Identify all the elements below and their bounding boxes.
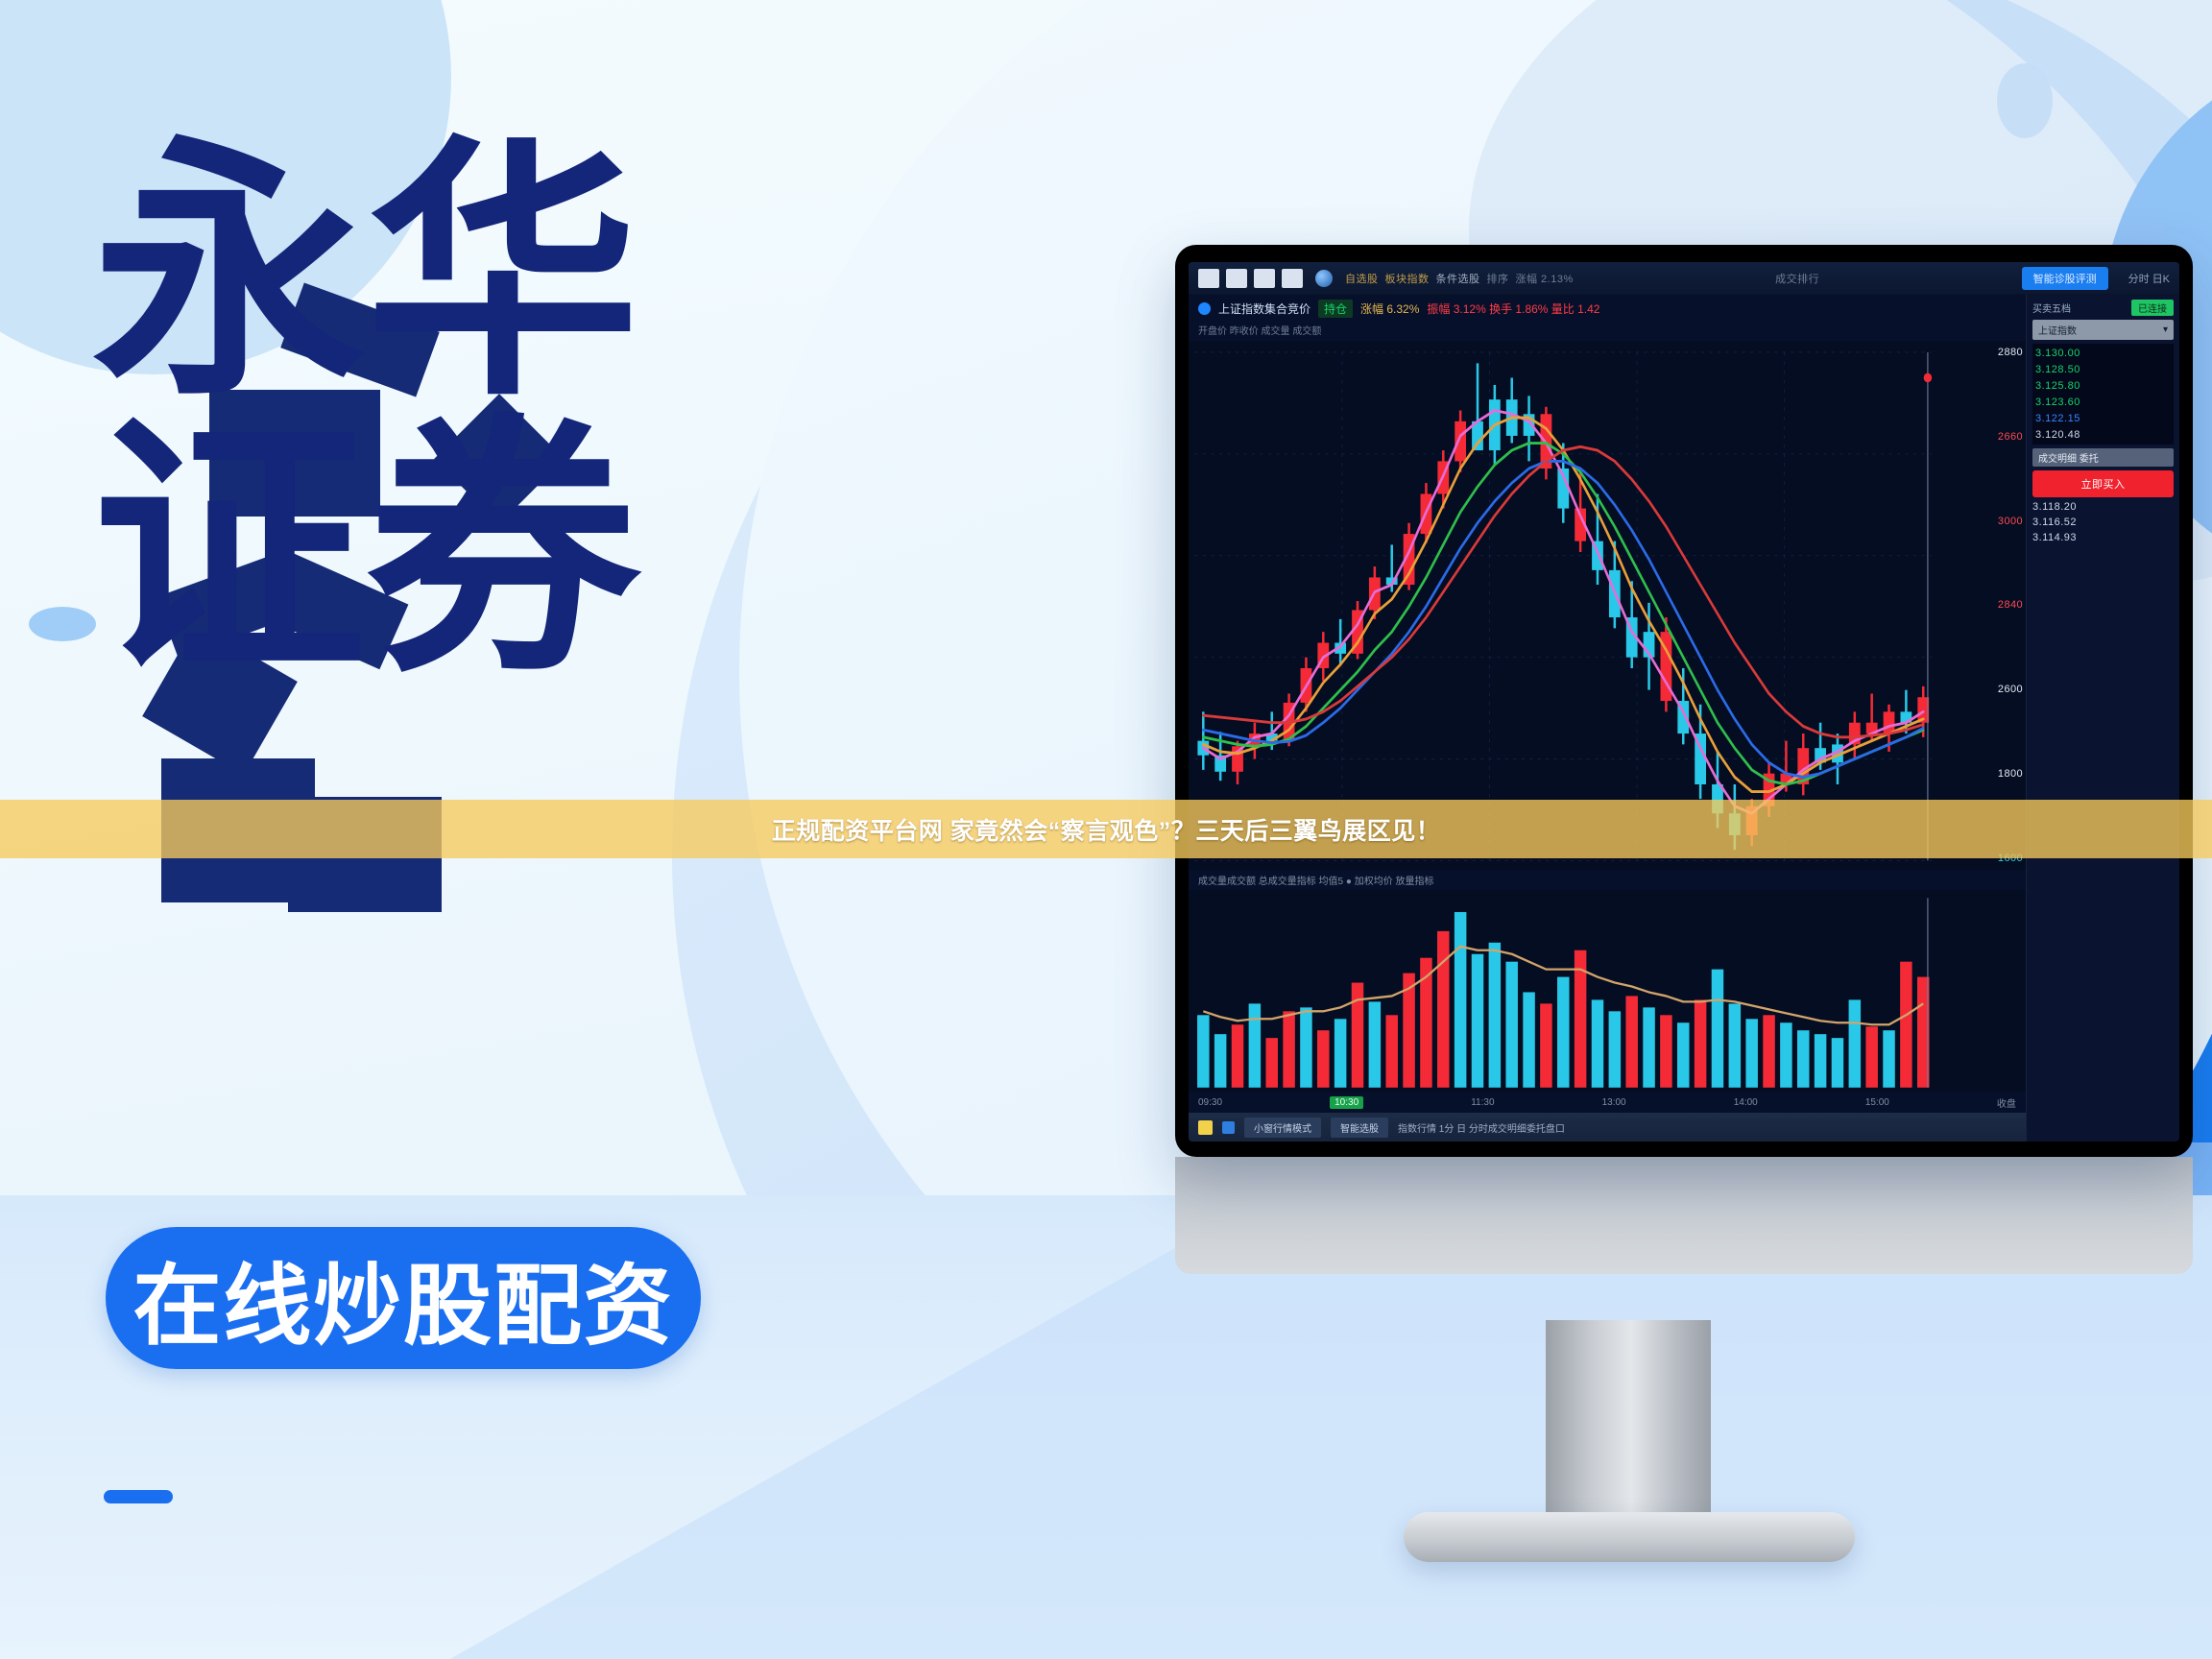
side-title-row: 买卖五档 已连接 (2032, 300, 2174, 316)
volume-chart[interactable] (1189, 890, 2026, 1092)
refresh-icon[interactable] (1315, 270, 1333, 287)
ask-row-3: 3.123.60 (2035, 397, 2171, 408)
headline-line-1: 永华 (92, 144, 764, 404)
bid-row-2: 3.114.93 (2032, 532, 2174, 543)
side-panel-title: 买卖五档 (2032, 301, 2071, 315)
x-axis: 09:3010:3011:3013:0014:0015:00收盘 (1189, 1092, 2026, 1113)
status-chip-1[interactable]: 智能选股 (1331, 1118, 1388, 1138)
toolbar-item-5[interactable]: 涨幅 2.13% (1516, 271, 1574, 286)
price-ladder-item-0: 2880 (1998, 347, 2023, 358)
quote-detail: 振幅 3.12% 换手 1.86% 量比 1.42 (1427, 301, 1599, 317)
quote-badge: 持仓 (1318, 300, 1353, 318)
decor-ellipse-left (29, 607, 96, 641)
candlestick-chart[interactable]: 2880266030002840260018001600 (1189, 341, 2026, 870)
price-ladder-item-3: 2840 (1998, 599, 2023, 611)
toolbar-item-1[interactable]: 板块指数 (1385, 271, 1430, 286)
app-main: 上证指数集合竞价 持仓 涨幅 6.32% 振幅 3.12% 换手 1.86% 量… (1189, 295, 2026, 1142)
ask-row-0: 3.130.00 (2035, 348, 2171, 359)
price-ladder-item-4: 2600 (1998, 684, 2023, 695)
caption-text: 正规配资平台网 家竟然会“察言观色”？三天后三翼鸟展区见！ (772, 812, 1440, 847)
buy-button[interactable]: 立即买入 (2032, 470, 2174, 497)
toolbar-item-4[interactable]: 成交排行 (1775, 271, 1819, 286)
status-blue-icon[interactable] (1222, 1121, 1235, 1134)
quote-change: 涨幅 6.32% (1360, 301, 1419, 317)
brand-headline: 永华 证券 (92, 144, 764, 682)
monitor-bezel: 自选股 板块指数 条件选股 排序 涨幅 2.13% 成交排行 智能诊股评测 分时… (1175, 245, 2193, 1157)
monitor-chin (1175, 1157, 2193, 1274)
price-ladder: 2880266030002840260018001600 (1998, 347, 2023, 864)
x-axis-label-0: 09:30 (1198, 1097, 1222, 1108)
quote-name: 上证指数集合竞价 (1218, 301, 1310, 317)
quote-sub: 开盘价 昨收价 成交量 成交额 (1189, 321, 2026, 341)
promotional-banner: 永华 证券 在线炒股配资 自选股 板块指数 条 (0, 0, 2212, 1659)
bid-row-1: 3.116.52 (2032, 517, 2174, 528)
last-price: 3.120.48 (2035, 429, 2171, 441)
volume-header-label: 成交量成交额 总成交量指标 均值5 ● 加权均价 放量指标 (1198, 873, 1434, 887)
toolbar-box-1[interactable] (1198, 269, 1219, 288)
status-chip-0[interactable]: 小窗行情模式 (1244, 1118, 1321, 1138)
status-yellow-icon[interactable] (1198, 1120, 1213, 1135)
price-ladder-item-2: 3000 (1998, 516, 2023, 527)
monitor: 自选股 板块指数 条件选股 排序 涨幅 2.13% 成交排行 智能诊股评测 分时… (1175, 245, 2193, 1274)
diagnose-button[interactable]: 智能诊股评测 (2022, 267, 2108, 290)
toolbar-item-3[interactable]: 排序 (1487, 271, 1509, 286)
cta-button-label: 在线炒股配资 (132, 1235, 673, 1362)
app-side-panel: 买卖五档 已连接 上证指数 ▾ 3.130.00 3.128.50 3.125.… (2026, 295, 2179, 1142)
toolbar-box-4[interactable] (1282, 269, 1303, 288)
x-axis-label-5: 15:00 (1865, 1097, 1889, 1108)
x-axis-label-1: 10:30 (1330, 1096, 1363, 1109)
current-price: 3.122.15 (2035, 413, 2171, 424)
monitor-screen: 自选股 板块指数 条件选股 排序 涨幅 2.13% 成交排行 智能诊股评测 分时… (1189, 262, 2179, 1142)
order-book-list: 3.130.00 3.128.50 3.125.80 3.123.60 3.12… (2032, 344, 2174, 445)
app-status-bar: 小窗行情模式 智能选股 指数行情 1分 日 分时成交明细委托盘口 (1189, 1113, 2026, 1142)
x-axis-label-4: 14:00 (1734, 1097, 1758, 1108)
toolbar-item-2[interactable]: 条件选股 (1436, 271, 1480, 286)
caption-banner: 正规配资平台网 家竟然会“察言观色”？三天后三翼鸟展区见！ (0, 800, 2212, 858)
decor-circle-small (1997, 63, 2053, 138)
quote-dot-icon (1198, 302, 1211, 315)
trading-app: 自选股 板块指数 条件选股 排序 涨幅 2.13% 成交排行 智能诊股评测 分时… (1189, 262, 2179, 1142)
monitor-stand-base (1404, 1512, 1855, 1562)
toolbar-box-3[interactable] (1254, 269, 1275, 288)
x-axis-label-6: 收盘 (1997, 1095, 2016, 1110)
headline-line-2: 证券 (92, 421, 764, 682)
side-panel-select[interactable]: 上证指数 ▾ (2032, 320, 2174, 340)
status-bar-text: 指数行情 1分 日 分时成交明细委托盘口 (1398, 1120, 1565, 1135)
ask-row-2: 3.125.80 (2035, 380, 2171, 392)
x-axis-label-3: 13:00 (1602, 1097, 1626, 1108)
monitor-stand-neck (1546, 1320, 1711, 1529)
cta-button[interactable]: 在线炒股配资 (106, 1227, 701, 1369)
volume-svg (1189, 890, 2026, 1092)
toolbar-box-2[interactable] (1226, 269, 1247, 288)
side-panel-badge: 已连接 (2131, 300, 2174, 316)
app-body: 上证指数集合竞价 持仓 涨幅 6.32% 振幅 3.12% 换手 1.86% 量… (1189, 295, 2179, 1142)
volume-header: 成交量成交额 总成交量指标 均值5 ● 加权均价 放量指标 (1189, 870, 2026, 890)
toolbar-right-label: 分时 日K (2115, 271, 2170, 286)
bid-row-0: 3.118.20 (2032, 501, 2174, 513)
quote-bar: 上证指数集合竞价 持仓 涨幅 6.32% 振幅 3.12% 换手 1.86% 量… (1189, 295, 2026, 321)
decor-dash (104, 1490, 173, 1503)
side-section-label: 成交明细 委托 (2032, 448, 2174, 467)
app-toolbar: 自选股 板块指数 条件选股 排序 涨幅 2.13% 成交排行 智能诊股评测 分时… (1189, 262, 2179, 295)
ask-row-1: 3.128.50 (2035, 364, 2171, 375)
candlestick-svg (1189, 341, 2026, 870)
side-panel-select-value: 上证指数 (2038, 323, 2077, 337)
chevron-down-icon: ▾ (2163, 325, 2168, 335)
price-ladder-item-1: 2660 (1998, 431, 2023, 443)
x-axis-label-2: 11:30 (1471, 1097, 1494, 1108)
price-ladder-item-5: 1800 (1998, 768, 2023, 780)
toolbar-item-0[interactable]: 自选股 (1345, 271, 1379, 286)
